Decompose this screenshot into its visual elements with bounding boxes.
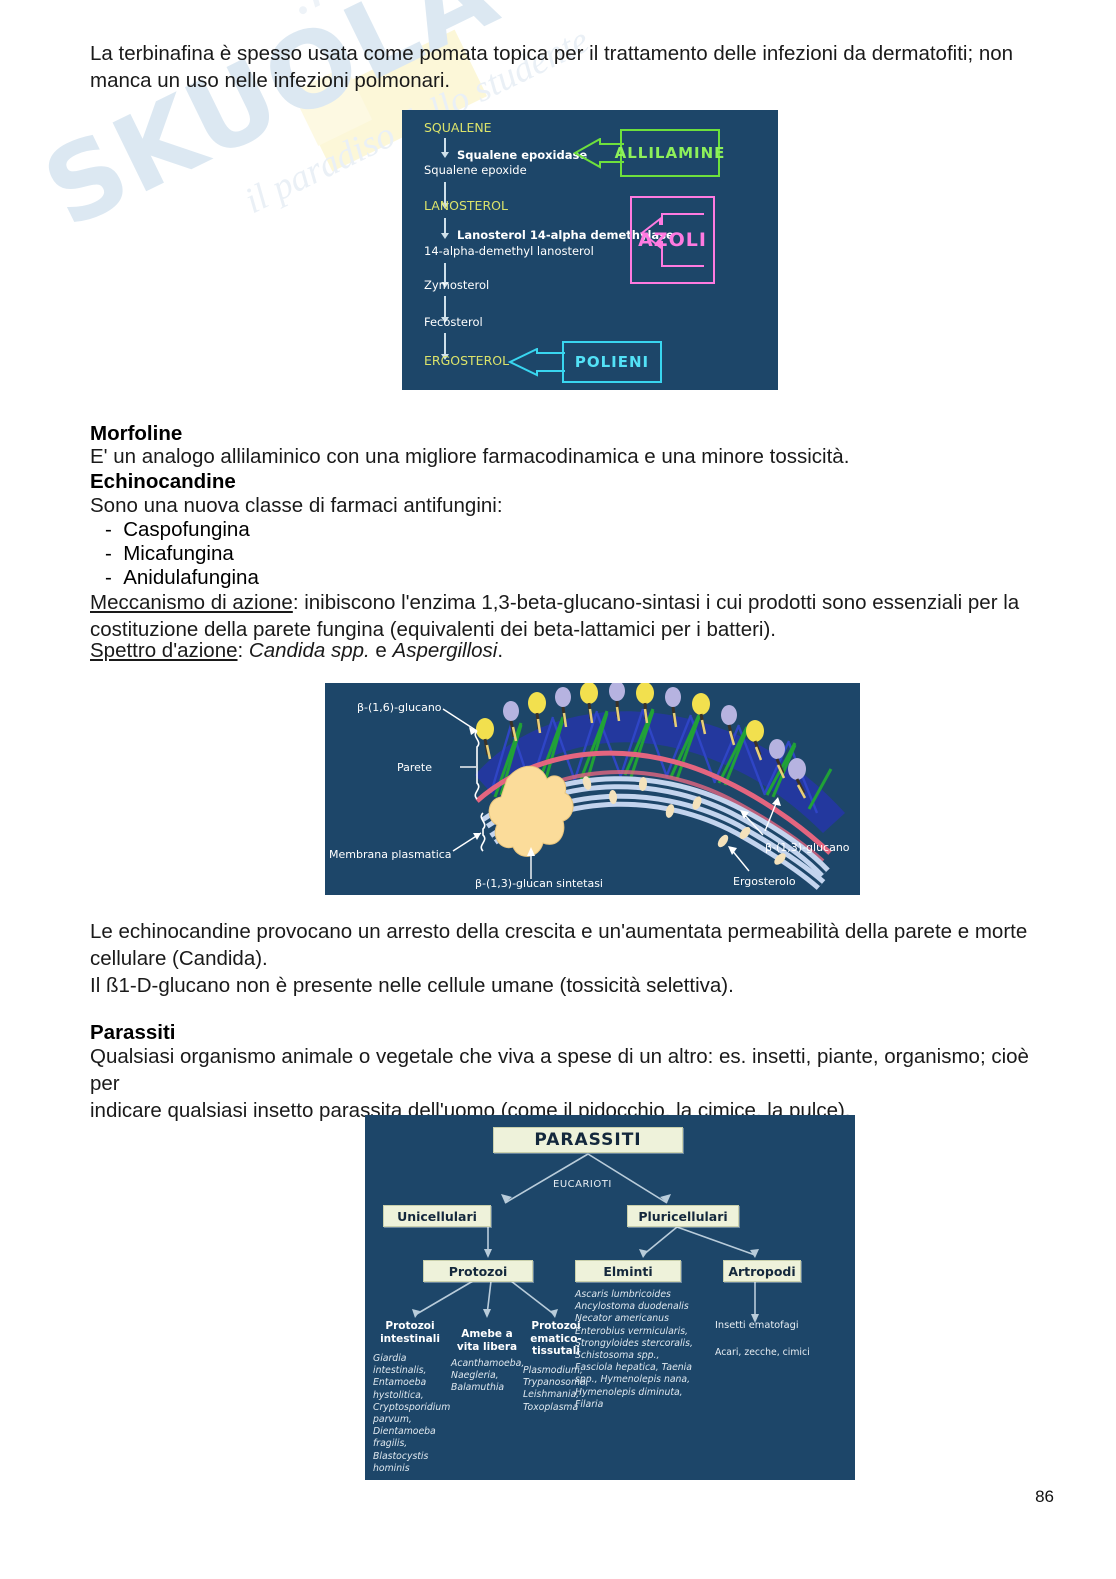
intro-paragraph: La terbinafina è spesso usata come pomat… <box>90 40 1035 94</box>
bullet-dash: - <box>105 566 123 589</box>
bullet-dash: - <box>105 542 123 565</box>
list-item-caspofungina: - Caspofungina <box>105 516 250 543</box>
paragraph-spettro: Spettro d'azione: Candida spp. e Aspergi… <box>90 637 1040 664</box>
spettro-conjunction: e <box>370 639 393 662</box>
cellwall-label-ergosterolo: Ergosterolo <box>733 875 796 888</box>
paragraph-parassiti: Qualsiasi organismo animale o vegetale c… <box>90 1043 1050 1124</box>
spettro-separator: : <box>238 639 249 662</box>
list-item-label: Anidulafungina <box>123 566 259 589</box>
pathway-step-zymosterol: Zymosterol <box>424 278 489 292</box>
heading-parassiti: Parassiti <box>90 1019 175 1046</box>
arrow-shaft-1 <box>444 138 446 153</box>
label-spettro-dazione: Spettro d'azione <box>90 639 238 662</box>
drug-box-polieni: POLIENI <box>562 341 662 383</box>
leaf-title-insetti-ematofagi: Insetti ematofagi <box>715 1320 799 1331</box>
cell-wall-illustration <box>325 683 860 895</box>
drug-arrow-polieni <box>507 348 567 378</box>
effect-line-1: Le echinocandine provocano un arresto de… <box>90 920 1027 943</box>
leaf-species-elminti: Ascaris lumbricoides Ancylostoma duodena… <box>575 1289 699 1411</box>
pathway-step-ergosterol: ERGOSTEROL <box>424 353 509 368</box>
arrow-shaft-3 <box>444 218 446 234</box>
figure-ergosterol-pathway: SQUALENE Squalene epoxidase Squalene epo… <box>402 110 778 390</box>
intro-line-2: manca un uso nelle infezioni polmonari. <box>90 69 450 92</box>
pathway-step-squalene-epoxide: Squalene epoxide <box>424 163 527 177</box>
cellwall-label-b16-glucano: β-(1,6)-glucano <box>357 701 442 714</box>
list-item-micafungina: - Micafungina <box>105 540 234 567</box>
cellwall-label-b13-glucano: β-(1,3)-glucano <box>765 841 850 854</box>
pathway-step-fecosterol: Fecosterol <box>424 315 483 329</box>
list-item-label: Micafungina <box>123 542 234 565</box>
bullet-dash: - <box>105 518 123 541</box>
leaf-title-protozoi-intestinali: Protozoi intestinali <box>373 1320 447 1345</box>
pathway-step-demethyl-lanosterol: 14-alpha-demethyl lanosterol <box>424 244 594 258</box>
paragraph-echinocandine-effect: Le echinocandine provocano un arresto de… <box>90 918 1040 999</box>
leaf-species-artropodi: Acari, zecche, cimici <box>715 1347 810 1358</box>
meccanismo-line-1: : inibiscono l'enzima 1,3-beta-glucano-s… <box>293 591 1019 614</box>
drug-arrow-azoli <box>640 210 706 270</box>
parassiti-line-1: Qualsiasi organismo animale o vegetale c… <box>90 1045 1029 1095</box>
arrow-shaft-6 <box>444 333 446 355</box>
drug-arrow-allilamine <box>572 138 626 170</box>
tree-node-unicellulari: Unicellulari <box>383 1205 491 1227</box>
spettro-value-candida: Candida spp. <box>249 639 370 662</box>
list-item-anidulafungina: - Anidulafungina <box>105 564 259 591</box>
pathway-step-lanosterol: LANOSTEROL <box>424 198 508 213</box>
pathway-step-squalene: SQUALENE <box>424 120 492 135</box>
tree-node-artropodi: Artropodi <box>723 1260 801 1282</box>
effect-line-3: Il ß1-D-glucano non è presente nelle cel… <box>90 974 734 997</box>
effect-line-2: cellulare (Candida). <box>90 947 268 970</box>
watermark-domain: .net <box>272 0 393 31</box>
leaf-species-protozoi-intestinali: Giardia intestinalis, Entamoeba hystolit… <box>373 1353 445 1475</box>
paragraph-meccanismo: Meccanismo di azione: inibiscono l'enzim… <box>90 589 1040 643</box>
drug-box-allilamine: ALLILAMINE <box>620 129 720 177</box>
list-item-label: Caspofungina <box>123 518 250 541</box>
cellwall-label-membrana: Membrana plasmatica <box>329 848 452 861</box>
page-number: 86 <box>1035 1487 1054 1507</box>
leaf-title-amebe-vita-libera: Amebe a vita libera <box>451 1328 523 1353</box>
cellwall-label-glucan-sintetasi: β-(1,3)-glucan sintetasi <box>475 877 603 890</box>
label-meccanismo-di-azione: Meccanismo di azione <box>90 591 293 614</box>
intro-line-1: La terbinafina è spesso usata come pomat… <box>90 42 1013 65</box>
leaf-species-amebe-vita-libera: Acanthamoeba, Naegleria, Balamuthia <box>451 1358 527 1395</box>
spettro-value-aspergillosi: Aspergillosi <box>393 639 498 662</box>
pathway-enzyme-squalene-epoxidase: Squalene epoxidase <box>457 148 587 162</box>
cellwall-label-parete: Parete <box>397 761 432 774</box>
arrow-head-3 <box>441 233 449 239</box>
tree-node-elminti: Elminti <box>575 1260 681 1282</box>
figure-fungal-cell-wall: β-(1,6)-glucano Parete Membrana plasmati… <box>325 683 860 895</box>
paragraph-morfoline: E' un analogo allilaminico con una migli… <box>90 443 1035 470</box>
figure-parassiti-classification: PARASSITI EUCARIOTI <box>365 1115 855 1480</box>
arrow-head-1 <box>441 152 449 158</box>
tree-node-protozoi: Protozoi <box>423 1260 533 1282</box>
tree-node-pluricellulari: Pluricellulari <box>627 1205 739 1227</box>
heading-echinocandine: Echinocandine <box>90 468 236 495</box>
spettro-period: . <box>497 639 503 662</box>
paragraph-echinocandine-intro: Sono una nuova classe di farmaci antifun… <box>90 492 1035 519</box>
